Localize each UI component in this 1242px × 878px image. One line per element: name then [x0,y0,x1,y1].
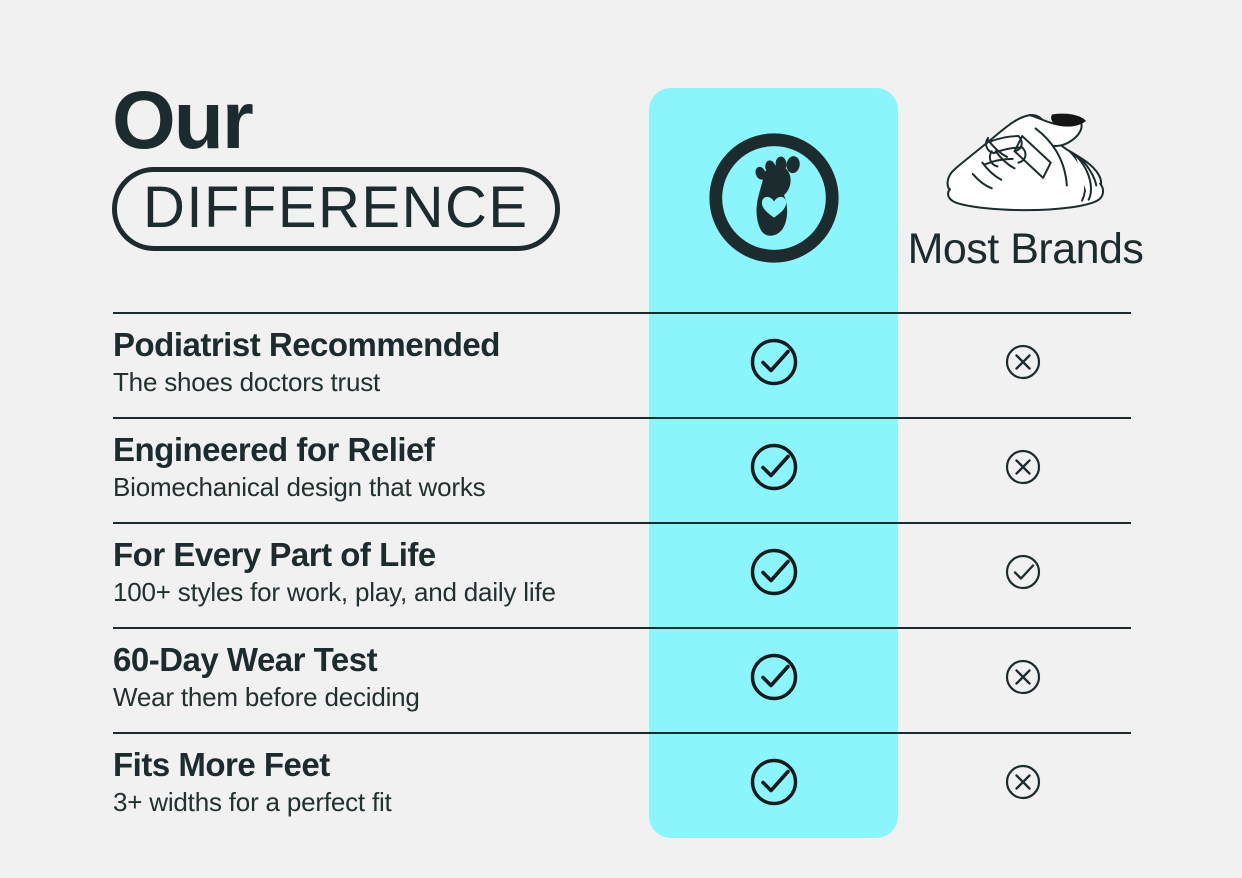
foot-heart-circle-logo-icon [703,127,845,274]
table-row: Engineered for ReliefBiomechanical desig… [0,417,1242,522]
feature-text: For Every Part of Life100+ styles for wo… [113,536,643,608]
page-title: Our DIFFERENCE [112,82,632,251]
feature-title: Podiatrist Recommended [113,326,643,364]
cross-circle-icon [1002,761,1044,808]
feature-text: Podiatrist RecommendedThe shoes doctors … [113,326,643,398]
feature-subtitle: 3+ widths for a perfect fit [113,787,643,818]
feature-subtitle: Biomechanical design that works [113,472,643,503]
feature-subtitle: Wear them before deciding [113,682,643,713]
cross-circle-icon [1002,341,1044,388]
brand-mark-cell [649,627,898,732]
check-circle-icon [746,754,802,815]
table-row: Podiatrist RecommendedThe shoes doctors … [0,312,1242,417]
feature-text: 60-Day Wear TestWear them before decidin… [113,641,643,713]
check-circle-icon [1002,551,1044,598]
other-column-label: Most Brands [908,225,1144,274]
brand-mark-cell [649,732,898,837]
other-mark-cell [898,627,1148,732]
feature-text: Engineered for ReliefBiomechanical desig… [113,431,643,503]
brand-mark-cell [649,417,898,522]
feature-title: 60-Day Wear Test [113,641,643,679]
other-mark-cell [898,732,1148,837]
page-title-line-2: DIFFERENCE [143,178,529,237]
page-title-pill: DIFFERENCE [112,167,560,251]
other-mark-cell [898,417,1148,522]
other-mark-cell [898,312,1148,417]
table-row: For Every Part of Life100+ styles for wo… [0,522,1242,627]
feature-title: Fits More Feet [113,746,643,784]
brand-mark-cell [649,312,898,417]
check-circle-icon [746,544,802,605]
check-circle-icon [746,649,802,710]
other-mark-cell [898,522,1148,627]
brand-column-header [649,88,898,312]
table-row: Fits More Feet3+ widths for a perfect fi… [0,732,1242,837]
feature-subtitle: The shoes doctors trust [113,367,643,398]
comparison-table: Podiatrist RecommendedThe shoes doctors … [0,312,1242,837]
table-row: 60-Day Wear TestWear them before decidin… [0,627,1242,732]
cross-circle-icon [1002,446,1044,493]
page-title-line-1: Our [112,82,632,161]
feature-text: Fits More Feet3+ widths for a perfect fi… [113,746,643,818]
comparison-header: Our DIFFERENCE [0,0,1242,312]
feature-subtitle: 100+ styles for work, play, and daily li… [113,577,643,608]
check-circle-icon [746,334,802,395]
feature-title: Engineered for Relief [113,431,643,469]
other-column-header: Most Brands [898,88,1153,312]
sneaker-illustration-icon [931,94,1121,223]
cross-circle-icon [1002,656,1044,703]
check-circle-icon [746,439,802,500]
brand-mark-cell [649,522,898,627]
feature-title: For Every Part of Life [113,536,643,574]
